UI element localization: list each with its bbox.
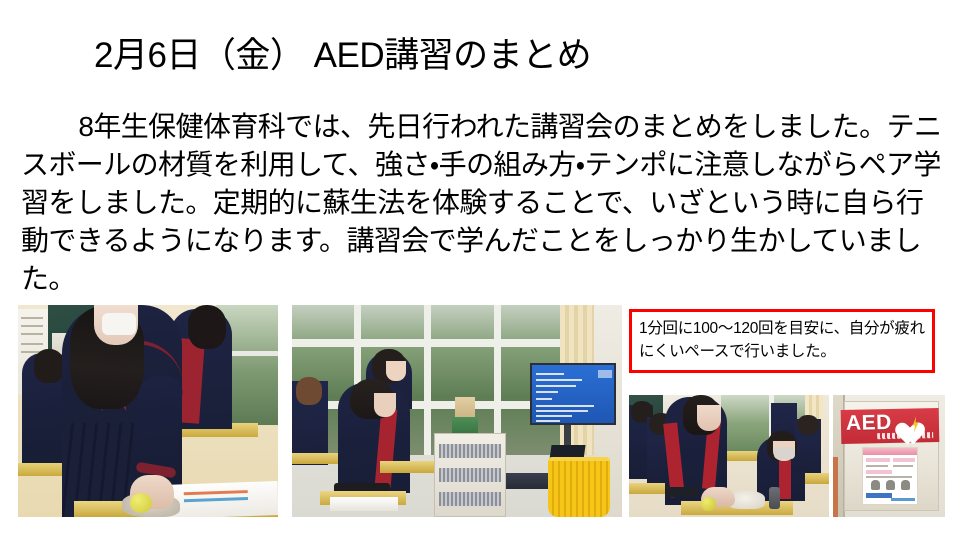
poster-footer [891, 498, 915, 501]
poster-blue-bar [866, 493, 892, 498]
photo-compression-practice [629, 395, 829, 517]
tennis-ball [130, 493, 152, 513]
page-title: 2月6日（金） AED講習のまとめ [94, 34, 591, 78]
papers [330, 497, 398, 511]
student-face [697, 405, 721, 431]
poster-figure-icon [901, 480, 910, 490]
student-face [374, 393, 396, 417]
student-hair [296, 377, 322, 405]
callout-text: 1分回に100～120回を目安に、自分が疲れにくいペースで行いました。 [639, 317, 929, 363]
poster-figure-icon [886, 480, 895, 490]
textbook [163, 481, 278, 517]
aed-sign: AED [841, 408, 940, 444]
poster-header [863, 448, 917, 455]
window-mullion [424, 305, 431, 455]
storage-shelf [434, 433, 506, 517]
photo-classroom-pair-work [18, 305, 278, 517]
student-jersey [779, 457, 791, 499]
face-mask [774, 447, 795, 459]
poster-row [893, 458, 915, 462]
body-paragraph: 8年生保健体育科では、先日行われた講習会のまとめをしました。テニスボールの材質を… [21, 108, 945, 298]
door-accent [833, 457, 838, 517]
tablet [665, 487, 699, 497]
presentation-slide: 2月6日（金） AED講習のまとめ 8年生保健体育科では、先日行われた講習会のま… [0, 0, 960, 540]
student-hair [34, 349, 64, 383]
aed-instruction-poster [862, 447, 918, 505]
photo-aed-cabinet: AED [833, 395, 945, 517]
face-mask [102, 313, 136, 335]
student-hair [797, 415, 819, 435]
tv-monitor [530, 363, 616, 425]
poster-line [866, 476, 912, 478]
window-mullion [292, 401, 560, 409]
monitor-screen [532, 365, 614, 423]
aed-sign-label: AED [846, 412, 892, 435]
poster-figure-icon [871, 480, 880, 490]
photo-window-monitor [292, 305, 622, 517]
desk [292, 453, 338, 464]
student-face [386, 361, 406, 381]
box [455, 397, 475, 419]
callout-box: 1分回に100～120回を目安に、自分が疲れにくいペースで行いました。 [629, 309, 935, 373]
poster-line [893, 465, 913, 467]
poster-row [866, 470, 892, 474]
poster-row [866, 458, 890, 462]
student-hair [188, 305, 226, 349]
poster-line [866, 465, 888, 467]
window-mullion [292, 339, 560, 347]
tennis-ball [701, 497, 716, 511]
yellow-basket [548, 457, 610, 517]
bottle [769, 487, 780, 509]
